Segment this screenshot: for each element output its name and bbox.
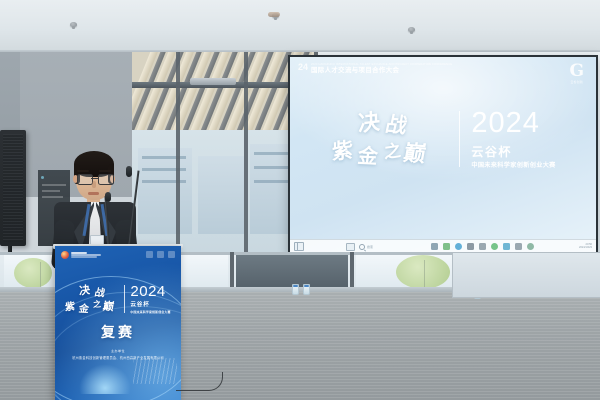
calligraphy-char: 巅: [402, 135, 430, 168]
nose: [92, 181, 96, 188]
sponsor-logo-icon: [168, 251, 175, 258]
ceiling-downlight-icon: [268, 12, 280, 17]
eyebrow: [77, 170, 89, 172]
calligraphy-char: 紫: [332, 134, 353, 166]
task-view-icon[interactable]: [346, 243, 355, 251]
calligraphy-char: 金: [78, 300, 90, 315]
microphone-icon: [126, 166, 132, 177]
calligraphy-char: 之: [93, 298, 101, 310]
water-bottle: [303, 284, 310, 295]
pa-loudspeaker: [0, 130, 26, 246]
exterior-building: [138, 148, 192, 234]
calligraphy-char: 之: [384, 136, 402, 163]
speaker-grill: [3, 134, 23, 242]
settings-icon[interactable]: [527, 243, 534, 250]
sponsor-logo-icon: [146, 251, 153, 258]
calligraphy-char: 巅: [102, 298, 116, 315]
taskbar-app-icons[interactable]: [431, 243, 534, 250]
calligraphy-char: 决: [358, 104, 381, 139]
event-emblem-icon: [61, 251, 69, 259]
notes-icon[interactable]: [503, 243, 510, 250]
banner-divider: [124, 285, 125, 313]
tree: [396, 255, 450, 289]
windows-taskbar[interactable]: 搜索 20:56 2024/10/23: [290, 239, 596, 253]
slide-year: 2024: [471, 109, 555, 138]
start-button-icon[interactable]: [294, 242, 304, 251]
right-wall-panel: [452, 252, 600, 298]
floor-cable: [176, 372, 223, 391]
calligraphy-char: 紫: [65, 297, 75, 313]
browser-icon[interactable]: [455, 243, 462, 250]
organizer-label: 主办单位: [55, 350, 181, 354]
smoke-detector-icon: [408, 27, 415, 32]
calligraphy-char: 金: [357, 140, 381, 170]
ceiling: [0, 0, 600, 52]
tree: [14, 258, 52, 288]
meeting-icon[interactable]: [515, 243, 522, 250]
mouth: [88, 192, 99, 195]
slide-brand-logo: G 云谷创新: [569, 64, 584, 84]
microphone-icon: [105, 192, 111, 202]
slide-divider: [459, 111, 460, 167]
slide-header: 24 2024 HANGZHOU INTERNATIONAL TALENT EX…: [298, 63, 452, 74]
file-explorer-icon[interactable]: [431, 243, 438, 250]
eyebrow: [99, 170, 111, 172]
sponsor-logo-icon: [157, 251, 164, 258]
slide-year-mark: 24: [298, 63, 308, 72]
slide-calligraphy-title: 决 战 紫 金 之 巅: [330, 103, 448, 175]
slide-competition-subtitle: 中国未来科学家创新创业大赛: [471, 163, 555, 169]
banner-stage-label: 复赛: [101, 322, 135, 342]
search-icon: [359, 244, 365, 250]
banner-light-burst: [79, 364, 131, 394]
camera-icon[interactable]: [467, 243, 474, 250]
banner-header: [61, 251, 175, 259]
taskbar-search[interactable]: 搜索: [359, 244, 373, 250]
door-closer: [190, 78, 236, 85]
slide-header-chinese: 国际人才交流与项目合作大会: [311, 68, 452, 74]
logo-caption: 云谷创新: [569, 80, 584, 84]
calligraphy-char: 决: [79, 281, 90, 299]
banner-calligraphy-title: 决 战 紫 金 之 巅: [65, 282, 119, 316]
slide-header-english: 2024 HANGZHOU INTERNATIONAL TALENT EXCHA…: [311, 63, 452, 67]
banner-year: 2024: [130, 284, 170, 299]
folder-icon[interactable]: [443, 243, 450, 250]
smoke-detector-icon: [70, 22, 77, 27]
podium-banner: 决 战 紫 金 之 巅 2024 云谷杯 中国未来科学家创新创业大赛 复赛 主办…: [55, 246, 181, 400]
organizer-logo: [61, 251, 101, 259]
projection-screen: 24 2024 HANGZHOU INTERNATIONAL TALENT EX…: [290, 57, 596, 253]
sponsor-logos: [146, 251, 175, 258]
search-placeholder: 搜索: [367, 245, 373, 249]
logo-g-icon: G: [569, 64, 584, 79]
water-bottle: [292, 284, 299, 295]
organizer-wordmark: [71, 252, 101, 258]
banner-cup-name: 云谷杯: [130, 303, 170, 309]
chat-icon[interactable]: [479, 243, 486, 250]
banner-main: 决 战 紫 金 之 巅 2024 云谷杯 中国未来科学家创新创业大赛 复赛: [55, 282, 181, 342]
clock-date: 2024/10/23: [579, 247, 592, 250]
exterior-building: [198, 156, 244, 234]
banner-competition-subtitle: 中国未来科学家创新创业大赛: [130, 311, 170, 314]
panel-indicator-icon: [41, 176, 44, 179]
slide-main: 决 战 紫 金 之 巅 2024 云谷杯 中国未来科学家创新创业大赛: [290, 103, 596, 175]
banner-grid-texture: [133, 358, 177, 384]
wechat-icon[interactable]: [491, 243, 498, 250]
projection-screen-frame: 24 2024 HANGZHOU INTERNATIONAL TALENT EX…: [288, 55, 598, 255]
taskbar-clock[interactable]: 20:56 2024/10/23: [579, 244, 592, 250]
photo-scene: 24 2024 HANGZHOU INTERNATIONAL TALENT EX…: [0, 0, 600, 400]
slide-cup-name: 云谷杯: [471, 146, 555, 158]
